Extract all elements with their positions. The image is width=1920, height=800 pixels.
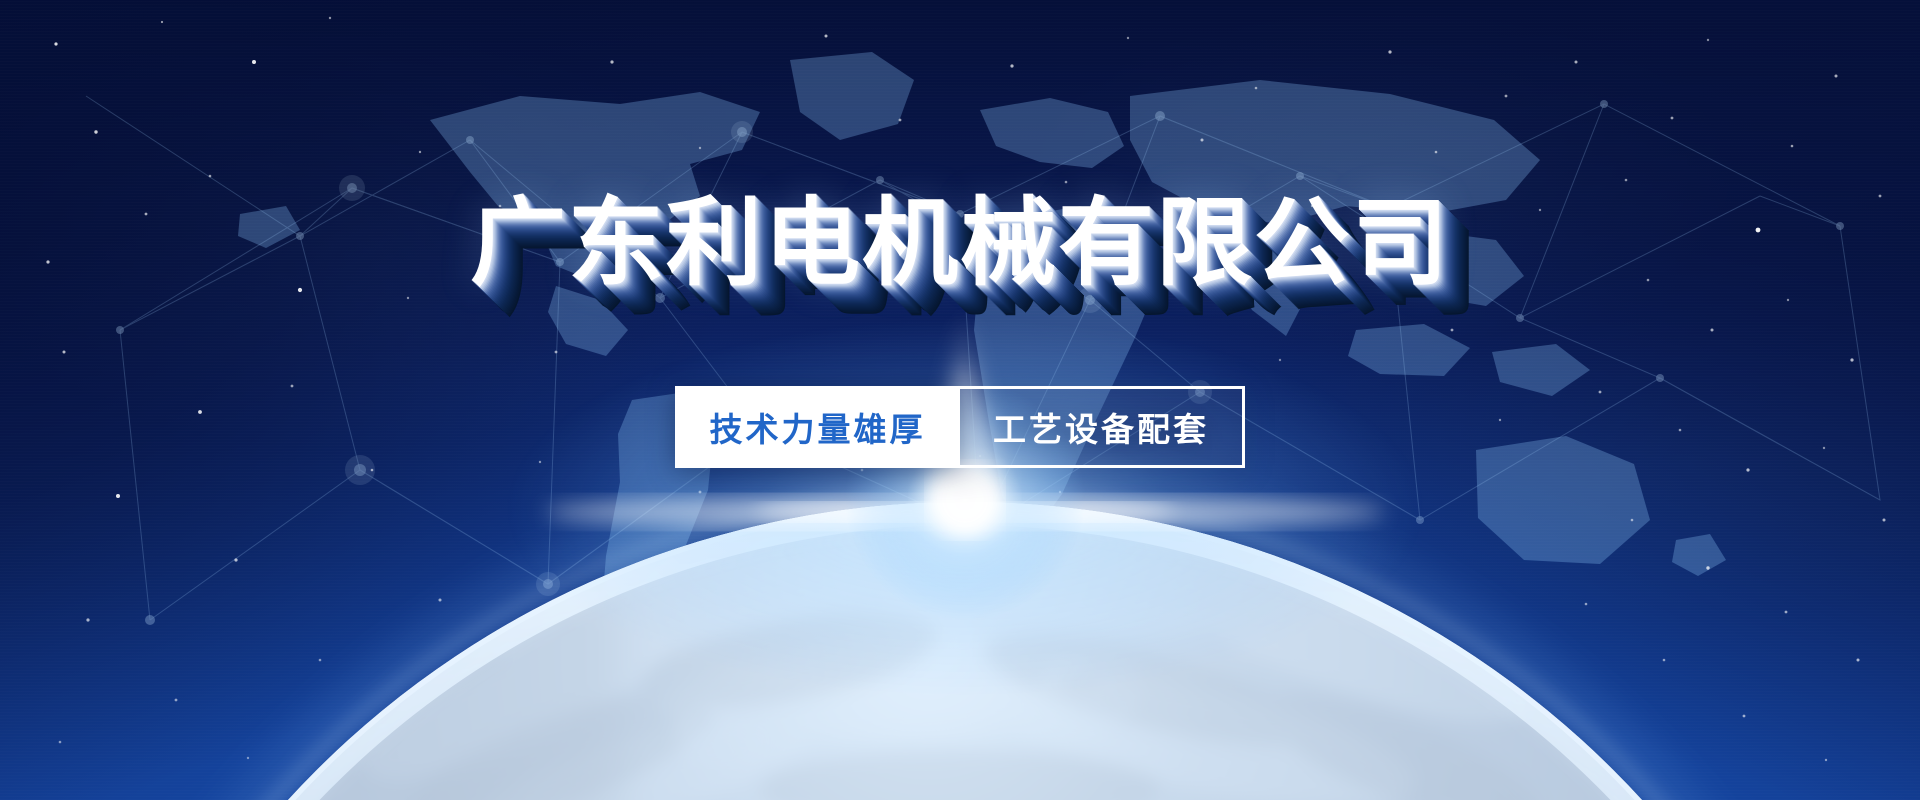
hero-banner: 广东利电机械有限公司 技术力量雄厚 工艺设备配套 [0, 0, 1920, 800]
tagline-item-process-equipment: 工艺设备配套 [960, 386, 1245, 468]
tagline-item-technical-strength: 技术力量雄厚 [675, 386, 960, 468]
company-title: 广东利电机械有限公司 [470, 196, 1450, 292]
tagline-group: 技术力量雄厚 工艺设备配套 [675, 386, 1245, 468]
tagline-container: 技术力量雄厚 工艺设备配套 [0, 386, 1920, 468]
headline-container: 广东利电机械有限公司 [0, 196, 1920, 292]
